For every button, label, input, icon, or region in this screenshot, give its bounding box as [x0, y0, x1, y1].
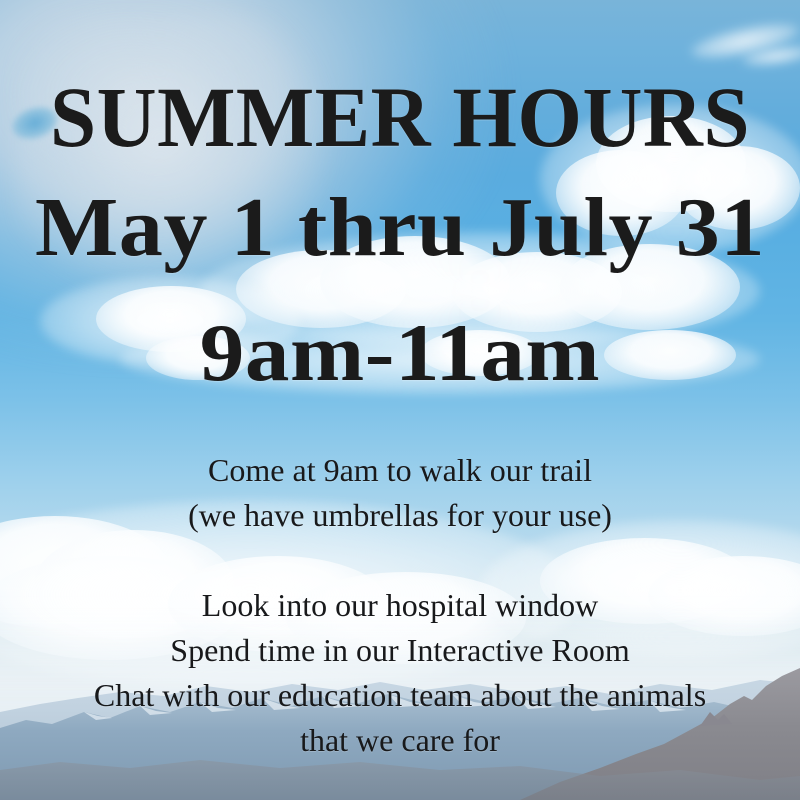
body-paragraph-2-line-3: Chat with our education team about the a… [0, 673, 800, 718]
summer-hours-poster: SUMMER HOURS May 1 thru July 31 9am-11am… [0, 0, 800, 800]
body-paragraph-2-line-2: Spend time in our Interactive Room [0, 628, 800, 673]
headline-line-1: SUMMER HOURS [50, 74, 750, 160]
body-paragraph-1-line-1: Come at 9am to walk our trail [0, 448, 800, 493]
headline-line-2: May 1 thru July 31 [35, 186, 765, 270]
body-paragraph-1: Come at 9am to walk our trail (we have u… [0, 448, 800, 538]
body-paragraph-2-line-4: that we care for [0, 718, 800, 763]
body-paragraph-2: Look into our hospital window Spend time… [0, 583, 800, 763]
headline-line-3: 9am-11am [200, 312, 600, 394]
body-paragraph-1-line-2: (we have umbrellas for your use) [0, 493, 800, 538]
body-paragraph-2-line-1: Look into our hospital window [0, 583, 800, 628]
poster-text-content: SUMMER HOURS May 1 thru July 31 9am-11am… [0, 0, 800, 800]
